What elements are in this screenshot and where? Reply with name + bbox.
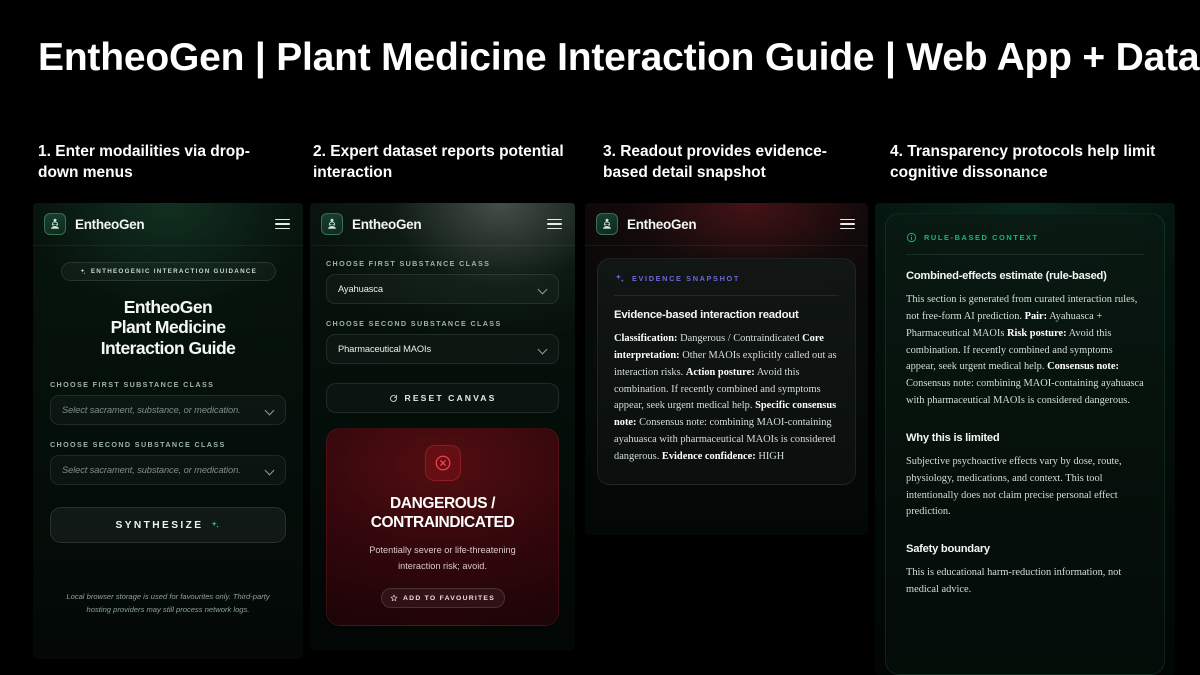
hero-line-2: Plant Medicine [50,317,286,337]
danger-title: DANGEROUS / CONTRAINDICATED [341,495,544,533]
step-caption-1: 1. Enter modailities via drop-down menus [38,142,288,184]
brand-name: EntheoGen [352,217,421,232]
second-substance-label: CHOOSE SECOND SUBSTANCE CLASS [50,440,286,449]
step-caption-2: 2. Expert dataset reports potential inte… [313,142,568,184]
divider [906,254,1144,255]
combined-effects-label-consensus: Consensus note: [1047,361,1119,372]
guidance-pill: ENTHEOGENIC INTERACTION GUIDANCE [61,262,276,281]
danger-subtitle: Potentially severe or life-threatening i… [341,542,544,574]
safety-boundary-heading: Safety boundary [906,543,1144,555]
first-substance-select[interactable]: Select sacrament, substance, or medicati… [50,395,286,425]
combined-effects-label-pair: Pair: [1025,311,1048,322]
step-caption-4: 4. Transparency protocols help limit cog… [890,142,1170,184]
evidence-label-classification: Classification: [614,333,678,344]
combined-effects-heading: Combined-effects estimate (rule-based) [906,270,1144,282]
star-icon [390,594,398,602]
hero-line-1: EntheoGen [50,297,286,317]
reset-canvas-button[interactable]: RESET CANVAS [326,383,559,413]
evidence-snapshot-card: EVIDENCE SNAPSHOT Evidence-based interac… [597,258,856,485]
evidence-label-confidence: Evidence confidence: [662,451,756,462]
page-title: EntheoGen | Plant Medicine Interaction G… [38,36,1178,81]
evidence-text-classification: Dangerous / Contraindicated [678,333,800,344]
app-header-3: EntheoGen [585,203,868,246]
guidance-pill-label: ENTHEOGENIC INTERACTION GUIDANCE [91,268,257,275]
why-limited-body: Subjective psychoactive effects vary by … [906,454,1144,521]
step-caption-3: 3. Readout provides evidence-based detai… [603,142,868,184]
add-to-favourites-label: ADD TO FAVOURITES [403,595,495,602]
second-substance-placeholder: Select sacrament, substance, or medicati… [62,465,241,475]
safety-boundary-body: This is educational harm-reduction infor… [906,565,1144,599]
sparkle-icon [614,273,625,284]
meditating-figure-icon [596,213,618,235]
screenshot-panel-2: EntheoGen CHOOSE FIRST SUBSTANCE CLASS A… [310,203,575,650]
refresh-icon [389,394,398,403]
brand-name: EntheoGen [75,217,144,232]
first-substance-placeholder: Select sacrament, substance, or medicati… [62,405,241,415]
synthesize-button[interactable]: SYNTHESIZE [50,507,286,543]
app-header-1: EntheoGen [33,203,303,246]
hero-line-3: Interaction Guide [50,338,286,358]
rule-based-context-label: RULE-BASED CONTEXT [924,233,1039,242]
evidence-body: Classification: Dangerous / Contraindica… [614,331,839,466]
second-substance-select[interactable]: Pharmaceutical MAOIs [326,334,559,364]
evidence-label-action: Action posture: [686,367,755,378]
storage-footnote: Local browser storage is used for favour… [50,591,286,616]
synthesize-label: SYNTHESIZE [116,520,204,531]
sparkle-icon [79,268,86,275]
hero-title: EntheoGen Plant Medicine Interaction Gui… [50,297,286,358]
add-to-favourites-button[interactable]: ADD TO FAVOURITES [381,588,505,608]
hamburger-icon[interactable] [547,219,562,230]
screenshot-panel-3: EntheoGen EVIDENCE SNAPSHOT Evidence-bas… [585,203,868,535]
hamburger-icon[interactable] [840,219,855,230]
combined-effects-intro: This section is generated from curated i… [906,294,1137,322]
chevron-down-icon [538,345,547,354]
combined-effects-body: This section is generated from curated i… [906,292,1144,410]
evidence-text-confidence: HIGH [756,451,785,462]
chevron-down-icon [538,285,547,294]
evidence-heading: Evidence-based interaction readout [614,309,839,321]
evidence-snapshot-label: EVIDENCE SNAPSHOT [632,274,740,283]
second-substance-value: Pharmaceutical MAOIs [338,344,431,354]
first-substance-value: Ayahuasca [338,284,383,294]
info-circle-icon [906,232,917,243]
second-substance-select[interactable]: Select sacrament, substance, or medicati… [50,455,286,485]
second-substance-label: CHOOSE SECOND SUBSTANCE CLASS [326,319,559,328]
rule-based-context-card: RULE-BASED CONTEXT Combined-effects esti… [885,213,1165,675]
meditating-figure-icon [44,213,66,235]
x-circle-icon [425,445,461,481]
screenshot-panel-1: EntheoGen ENTHEOGENIC INTERACTION GUIDAN… [33,203,303,659]
first-substance-label: CHOOSE FIRST SUBSTANCE CLASS [50,380,286,389]
combined-effects-text-consensus: Consensus note: combining MAOI-containin… [906,378,1144,406]
slide-canvas: EntheoGen | Plant Medicine Interaction G… [0,0,1200,675]
divider [614,295,839,296]
app-header-2: EntheoGen [310,203,575,246]
meditating-figure-icon [321,213,343,235]
reset-canvas-label: RESET CANVAS [405,393,497,403]
first-substance-label: CHOOSE FIRST SUBSTANCE CLASS [326,259,559,268]
evidence-snapshot-badge: EVIDENCE SNAPSHOT [614,273,839,284]
hamburger-icon[interactable] [275,219,290,230]
why-limited-heading: Why this is limited [906,432,1144,444]
chevron-down-icon [265,466,274,475]
danger-result-card: DANGEROUS / CONTRAINDICATED Potentially … [326,428,559,626]
chevron-down-icon [265,406,274,415]
screenshot-panel-4: RULE-BASED CONTEXT Combined-effects esti… [875,203,1175,675]
sparkle-icon [210,520,220,530]
brand-name: EntheoGen [627,217,696,232]
first-substance-select[interactable]: Ayahuasca [326,274,559,304]
combined-effects-label-risk: Risk posture: [1007,328,1067,339]
rule-based-context-badge: RULE-BASED CONTEXT [906,232,1144,243]
